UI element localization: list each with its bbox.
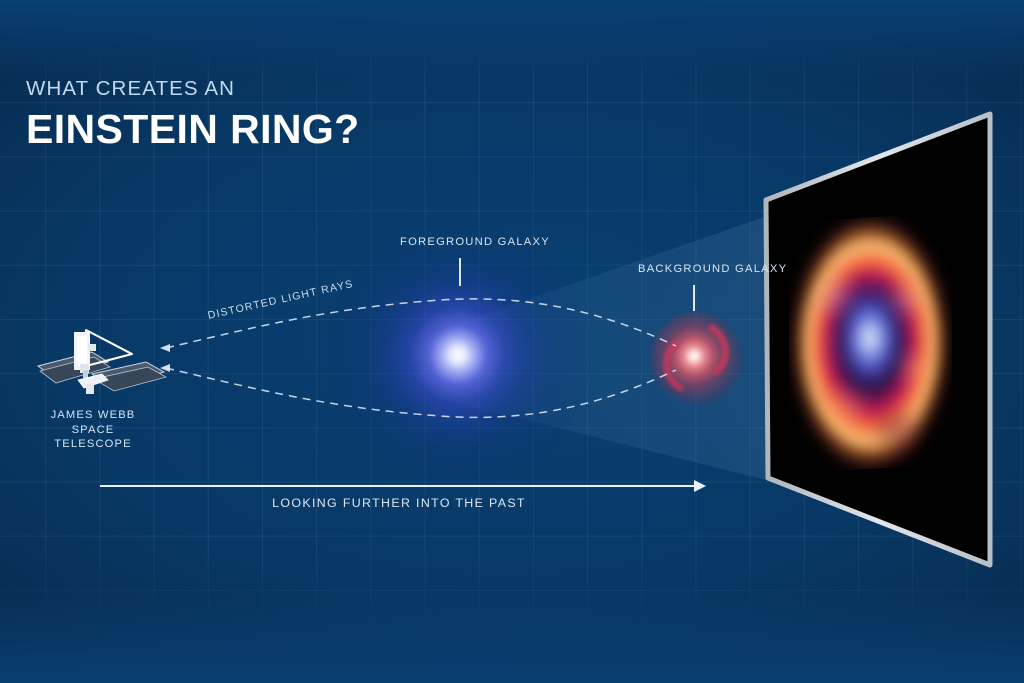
background-galaxy-leader-line [693,285,695,311]
background-top-fade [0,0,1024,80]
ring-lensing-core [827,270,913,418]
foreground-galaxy-leader-line [459,258,461,286]
page-title: EINSTEIN RING? [26,108,360,151]
timeline-arrow-line [100,485,698,487]
background-galaxy [650,312,742,404]
timeline-arrow-label: LOOKING FURTHER INTO THE PAST [100,496,698,510]
telescope-label: JAMES WEBB SPACE TELESCOPE [33,408,153,452]
einstein-ring-graphic [789,212,952,474]
james-webb-space-telescope-icon [30,322,170,406]
background-galaxy-label: BACKGROUND GALAXY [638,263,787,275]
ring-lower-blob [875,410,917,454]
title-kicker: WHAT CREATES AN [26,78,360,101]
background-bottom-fade [0,593,1024,683]
infographic-canvas: JAMES WEBB SPACE TELESCOPE FOREGROUND GA… [0,0,1024,683]
telescope-label-line1: JAMES WEBB [33,408,153,423]
telescope-label-line2: SPACE TELESCOPE [33,423,153,452]
title-block: WHAT CREATES AN EINSTEIN RING? [26,78,360,151]
foreground-galaxy-glow [328,225,588,485]
timeline-arrow-head-icon [694,480,706,492]
background-galaxy-arms [650,312,742,404]
foreground-galaxy-label: FOREGROUND GALAXY [400,236,550,248]
